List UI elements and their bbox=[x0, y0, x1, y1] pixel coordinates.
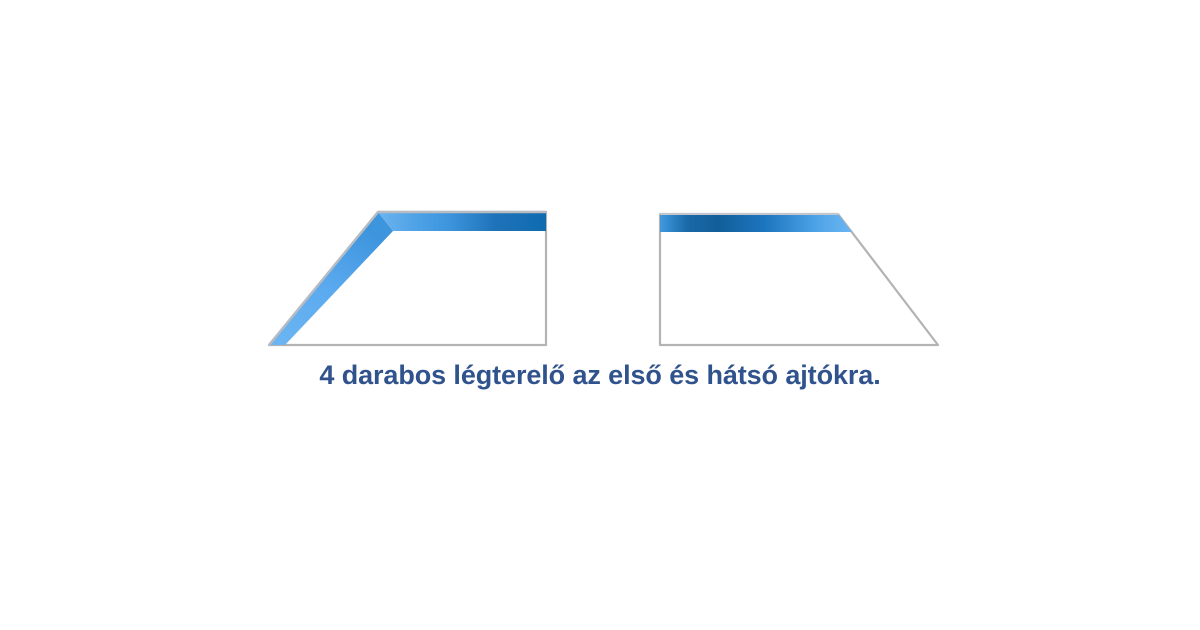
caption-text: 4 darabos légterelő az első és hátsó ajt… bbox=[0, 360, 1200, 391]
rear-door-deflector-part bbox=[660, 214, 938, 345]
rear-deflector-body bbox=[660, 214, 938, 345]
rear-deflector-top-band bbox=[660, 214, 852, 232]
deflector-diagram bbox=[0, 0, 1200, 630]
front-door-deflector-part bbox=[269, 212, 546, 345]
front-deflector-body bbox=[269, 212, 546, 345]
diagram-stage: 4 darabos légterelő az első és hátsó ajt… bbox=[0, 0, 1200, 630]
product-figure: 4 darabos légterelő az első és hátsó ajt… bbox=[0, 0, 1200, 630]
front-deflector-top-band bbox=[378, 212, 546, 231]
